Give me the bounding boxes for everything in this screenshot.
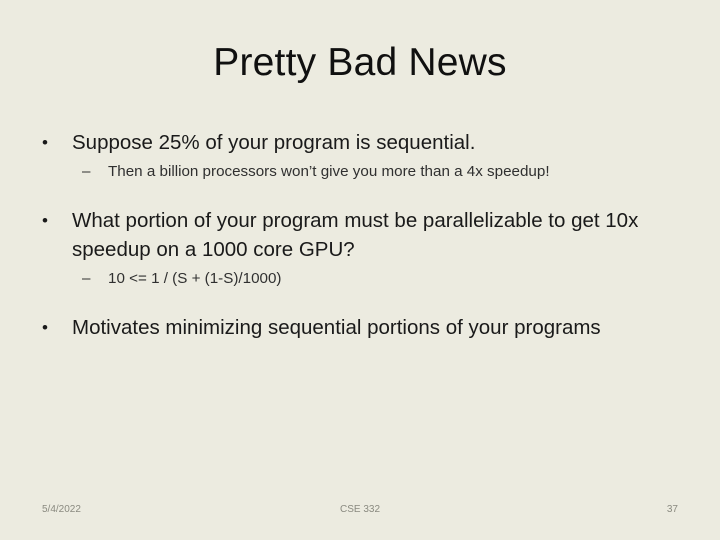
bullet-group-3: • Motivates minimizing sequential portio…	[36, 313, 684, 342]
bullet-item-level1: • What portion of your program must be p…	[36, 206, 684, 264]
slide-footer: 5/4/2022 CSE 332 37	[0, 496, 720, 540]
bullet-text-level2: Then a billion processors won’t give you…	[108, 160, 684, 184]
bullet-group-1: • Suppose 25% of your program is sequent…	[36, 128, 684, 184]
bullet-item-level2: – 10 <= 1 / (S + (1-S)/1000)	[36, 267, 684, 291]
bullet-text-level1: Motivates minimizing sequential portions…	[72, 313, 684, 342]
bullet-group-2: • What portion of your program must be p…	[36, 206, 684, 291]
bullet-marker-icon: •	[42, 206, 48, 235]
slide: Pretty Bad News • Suppose 25% of your pr…	[0, 0, 720, 540]
bullet-marker-icon: •	[42, 128, 48, 157]
footer-page-number: 37	[667, 504, 678, 515]
slide-title: Pretty Bad News	[0, 40, 720, 86]
bullet-marker-icon: •	[42, 313, 48, 342]
bullet-text-level1: What portion of your program must be par…	[72, 206, 684, 264]
footer-course-label: CSE 332	[0, 504, 720, 515]
sub-bullet-marker-icon: –	[82, 160, 90, 184]
bullet-text-level1: Suppose 25% of your program is sequentia…	[72, 128, 684, 157]
slide-body: • Suppose 25% of your program is sequent…	[36, 128, 684, 342]
bullet-item-level1: • Motivates minimizing sequential portio…	[36, 313, 684, 342]
sub-bullet-marker-icon: –	[82, 267, 90, 291]
bullet-item-level1: • Suppose 25% of your program is sequent…	[36, 128, 684, 157]
bullet-text-level2: 10 <= 1 / (S + (1-S)/1000)	[108, 267, 684, 291]
bullet-item-level2: – Then a billion processors won’t give y…	[36, 160, 684, 184]
